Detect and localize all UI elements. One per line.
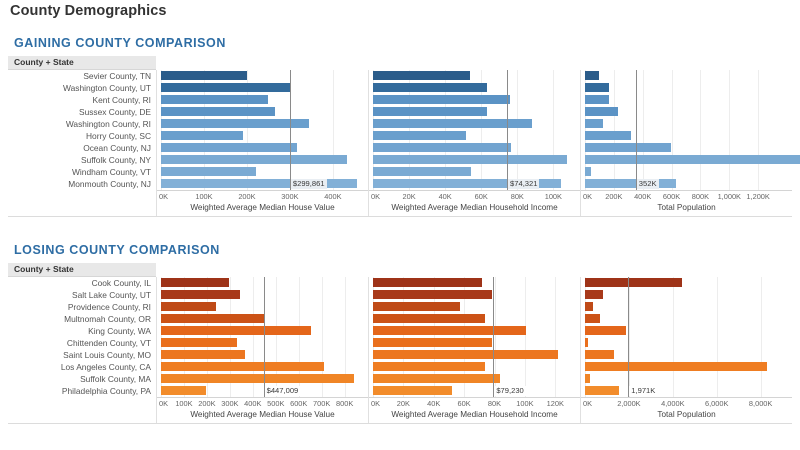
chart-panes: $299,8610K100K200K300K400KWeighted Avera… [156,70,792,216]
axis-tick: 8,000K [749,399,772,408]
axis-tick: 200K [238,192,255,201]
chart-area-losing: Cook County, ILSalt Lake County, UTProvi… [8,277,792,423]
reference-line-house-value [264,277,265,397]
bar-row [581,166,792,178]
bar[interactable] [373,374,500,383]
bar-row [369,325,580,337]
bar[interactable] [161,278,229,287]
axis-tick: 100K [545,192,562,201]
row-label[interactable]: Philadelphia County, PA [8,385,156,397]
axis-tick: 300K [281,192,298,201]
row-label[interactable]: King County, WA [8,325,156,337]
axis-tick: 0K [583,399,592,408]
row-label[interactable]: Windham County, VT [8,166,156,178]
row-label[interactable]: Horry County, SC [8,130,156,142]
bar[interactable] [585,362,767,371]
reference-label-household-income: $79,230 [494,386,525,396]
bar-row [157,325,368,337]
bar-row [157,289,368,301]
bar[interactable] [373,386,452,395]
axis-title-house-value: Weighted Average Median House Value [157,410,368,419]
chart-pane-total-population: 352K0K200K400K600K800K1,000K1,200KTotal … [580,70,792,216]
bar[interactable] [585,95,609,104]
bar-row [581,349,792,361]
bar[interactable] [161,155,347,164]
axis-tick: 600K [663,192,680,201]
axis-title-household-income: Weighted Average Median Household Income [369,203,580,212]
bar-row [369,106,580,118]
bar[interactable] [585,302,593,311]
axis-tick: 400K [244,399,261,408]
axis-tick: 100K [516,399,533,408]
bar-row [581,178,792,190]
row-label[interactable]: Salt Lake County, UT [8,289,156,301]
bar[interactable] [585,314,600,323]
bar[interactable] [161,326,311,335]
bar-row [369,313,580,325]
axis-tick: 40K [427,399,440,408]
reference-label-total-population: 352K [637,179,659,189]
bar[interactable] [373,314,485,323]
column-header-label: County + State [14,57,74,67]
bar[interactable] [585,179,676,188]
panel-losing: County + StateCook County, ILSalt Lake C… [8,263,792,424]
axis-line [369,397,580,398]
bar-row [157,154,368,166]
bar[interactable] [585,119,603,128]
bar-row [581,142,792,154]
bar-row [157,142,368,154]
bar-row [581,130,792,142]
plot-total-population: 352K [581,70,792,190]
bar[interactable] [585,143,671,152]
chart-pane-total-population: 1,971K0K2,000K4,000K6,000K8,000KTotal Po… [580,277,792,423]
bar[interactable] [585,386,619,395]
bar-row [369,166,580,178]
bar[interactable] [161,314,264,323]
plot-house-value: $299,861 [157,70,368,190]
bar[interactable] [585,71,599,80]
plot-total-population: 1,971K [581,277,792,397]
bar[interactable] [585,326,626,335]
bar[interactable] [585,350,614,359]
bar[interactable] [373,167,471,176]
row-label[interactable]: Chittenden County, VT [8,337,156,349]
bar-row [369,82,580,94]
chart-pane-house-value: $447,0090K100K200K300K400K500K600K700K80… [156,277,368,423]
bar[interactable] [373,326,526,335]
bar-row [369,373,580,385]
axis-tick: 80K [488,399,501,408]
bar[interactable] [585,131,631,140]
axis-tick: 2,000K [617,399,640,408]
axis-tick: 0K [371,192,380,201]
bar[interactable] [161,119,309,128]
bar[interactable] [161,350,245,359]
bar[interactable] [161,83,291,92]
chart-area-gaining: Sevier County, TNWashington County, UTKe… [8,70,792,216]
bar[interactable] [373,338,492,347]
bar-row [157,277,368,289]
row-label[interactable]: Cook County, IL [8,277,156,289]
axis-tick: 300K [221,399,238,408]
row-label-column: Cook County, ILSalt Lake County, UTProvi… [8,277,156,397]
axis-tick: 1,200K [746,192,769,201]
axis-tick: 700K [313,399,330,408]
row-label[interactable]: Washington County, UT [8,82,156,94]
bar[interactable] [161,386,206,395]
bar-row [369,142,580,154]
bar[interactable] [373,95,510,104]
bar[interactable] [373,290,492,299]
bar-row [157,349,368,361]
axis-tick: 40K [439,192,452,201]
bar-row [369,361,580,373]
bar-row [581,385,792,397]
bar[interactable] [585,83,609,92]
row-label[interactable]: Sevier County, TN [8,70,156,82]
chart-pane-household-income: $79,2300K20K40K60K80K100K120KWeighted Av… [368,277,580,423]
row-label[interactable]: Ocean County, NJ [8,142,156,154]
bar[interactable] [161,107,275,116]
axis-tick: 60K [458,399,471,408]
bar[interactable] [373,71,470,80]
row-label[interactable]: Los Angeles County, CA [8,361,156,373]
bar[interactable] [373,107,487,116]
bar-row [581,94,792,106]
bar[interactable] [373,119,532,128]
section-title-losing: LOSING COUNTY COMPARISON [14,243,220,257]
row-label[interactable]: Providence County, RI [8,301,156,313]
reference-label-house-value: $299,861 [291,179,327,189]
axis-tick: 400K [324,192,341,201]
row-label[interactable]: Suffolk County, MA [8,373,156,385]
bar[interactable] [161,338,237,347]
reference-line-house-value [290,70,291,190]
row-label[interactable]: Suffolk County, NY [8,154,156,166]
bar-row [369,118,580,130]
bar[interactable] [373,143,511,152]
axis-tick: 60K [475,192,488,201]
row-label[interactable]: Washington County, RI [8,118,156,130]
row-label-column: Sevier County, TNWashington County, UTKe… [8,70,156,190]
bar-row [369,154,580,166]
axis-tick: 0K [159,192,168,201]
axis-tick: 4,000K [661,399,684,408]
bar-row [581,106,792,118]
axis-tick: 6,000K [705,399,728,408]
bar[interactable] [585,374,590,383]
axis-line [157,190,368,191]
chart-panes: $447,0090K100K200K300K400K500K600K700K80… [156,277,792,423]
axis-tick: 200K [198,399,215,408]
bar[interactable] [161,362,324,371]
bar[interactable] [161,290,240,299]
axis-tick: 100K [195,192,212,201]
row-label[interactable]: Kent County, RI [8,94,156,106]
row-label[interactable]: Multnomah County, OR [8,313,156,325]
bar-row [369,385,580,397]
plot-household-income: $74,321 [369,70,580,190]
bar[interactable] [373,131,466,140]
bar-row [369,289,580,301]
column-header-label: County + State [14,264,74,274]
axis-line [369,190,580,191]
bar-row [157,82,368,94]
dashboard-page: County Demographics GAINING COUNTY COMPA… [0,0,800,450]
bar-row [157,361,368,373]
bar-row [369,349,580,361]
bar[interactable] [373,302,460,311]
bar-row [157,94,368,106]
bar[interactable] [373,350,558,359]
reference-label-house-value: $447,009 [265,386,301,396]
bar[interactable] [161,131,243,140]
axis-tick: 400K [634,192,651,201]
reference-label-household-income: $74,321 [508,179,539,189]
axis-tick: 80K [511,192,524,201]
axis-title-total-population: Total Population [581,203,792,212]
bar-row [581,361,792,373]
bar-row [157,130,368,142]
axis-tick: 800K [336,399,353,408]
reference-line-household-income [507,70,508,190]
bar-row [157,337,368,349]
bar[interactable] [161,143,297,152]
axis-tick: 0K [583,192,592,201]
axis-title-household-income: Weighted Average Median Household Income [369,410,580,419]
bar-row [369,94,580,106]
panel-divider [8,423,792,424]
bar[interactable] [161,71,247,80]
plot-house-value: $447,009 [157,277,368,397]
bar-row [581,82,792,94]
bar-row [157,118,368,130]
bar-row [157,178,368,190]
chart-pane-household-income: $74,3210K20K40K60K80K100KWeighted Averag… [368,70,580,216]
row-label[interactable]: Sussex County, DE [8,106,156,118]
bar[interactable] [161,167,256,176]
bar-row [369,337,580,349]
page-title: County Demographics [10,3,167,19]
bar[interactable] [373,155,567,164]
bar-row [369,178,580,190]
axis-tick: 800K [692,192,709,201]
bar[interactable] [585,107,618,116]
axis-tick: 500K [267,399,284,408]
reference-line-total-population [628,277,629,397]
bar[interactable] [161,95,268,104]
bar-row [157,373,368,385]
bar-row [157,301,368,313]
chart-pane-house-value: $299,8610K100K200K300K400KWeighted Avera… [156,70,368,216]
bar[interactable] [373,362,485,371]
bar-row [581,154,792,166]
row-label[interactable]: Saint Louis County, MO [8,349,156,361]
bar[interactable] [161,374,354,383]
bar-row [581,301,792,313]
bar[interactable] [161,302,216,311]
axis-line [581,190,792,191]
axis-tick: 0K [159,399,168,408]
bar-row [369,130,580,142]
bar-row [157,385,368,397]
axis-tick: 20K [402,192,415,201]
axis-tick: 1,000K [718,192,741,201]
bar-row [581,313,792,325]
bar[interactable] [585,338,588,347]
column-header-gaining: County + State [8,56,156,70]
bar-row [369,70,580,82]
panel-divider [8,216,792,217]
bar[interactable] [585,155,800,164]
axis-line [581,397,792,398]
bar[interactable] [585,167,591,176]
bar-row [581,118,792,130]
panel-gaining: County + StateSevier County, TNWashingto… [8,56,792,217]
reference-line-total-population [636,70,637,190]
reference-line-household-income [493,277,494,397]
axis-tick: 200K [605,192,622,201]
row-label[interactable]: Monmouth County, NJ [8,178,156,190]
bar-row [157,166,368,178]
axis-tick: 0K [371,399,380,408]
bar-row [581,373,792,385]
axis-title-total-population: Total Population [581,410,792,419]
plot-household-income: $79,230 [369,277,580,397]
bar[interactable] [585,278,682,287]
bar[interactable] [585,290,603,299]
bar-row [157,70,368,82]
axis-title-house-value: Weighted Average Median House Value [157,203,368,212]
column-header-losing: County + State [8,263,156,277]
section-title-gaining: GAINING COUNTY COMPARISON [14,36,226,50]
bar-row [581,325,792,337]
bar-row [369,301,580,313]
bar-row [581,277,792,289]
bar-row [581,70,792,82]
axis-tick: 100K [175,399,192,408]
bar-row [581,337,792,349]
bar-row [581,289,792,301]
axis-tick: 600K [290,399,307,408]
axis-tick: 20K [397,399,410,408]
bar[interactable] [161,179,357,188]
axis-tick: 120K [547,399,564,408]
bar-row [157,313,368,325]
bar-row [369,277,580,289]
bar-row [157,106,368,118]
bar[interactable] [373,278,482,287]
bar[interactable] [373,83,487,92]
axis-line [157,397,368,398]
reference-label-total-population: 1,971K [629,386,657,396]
